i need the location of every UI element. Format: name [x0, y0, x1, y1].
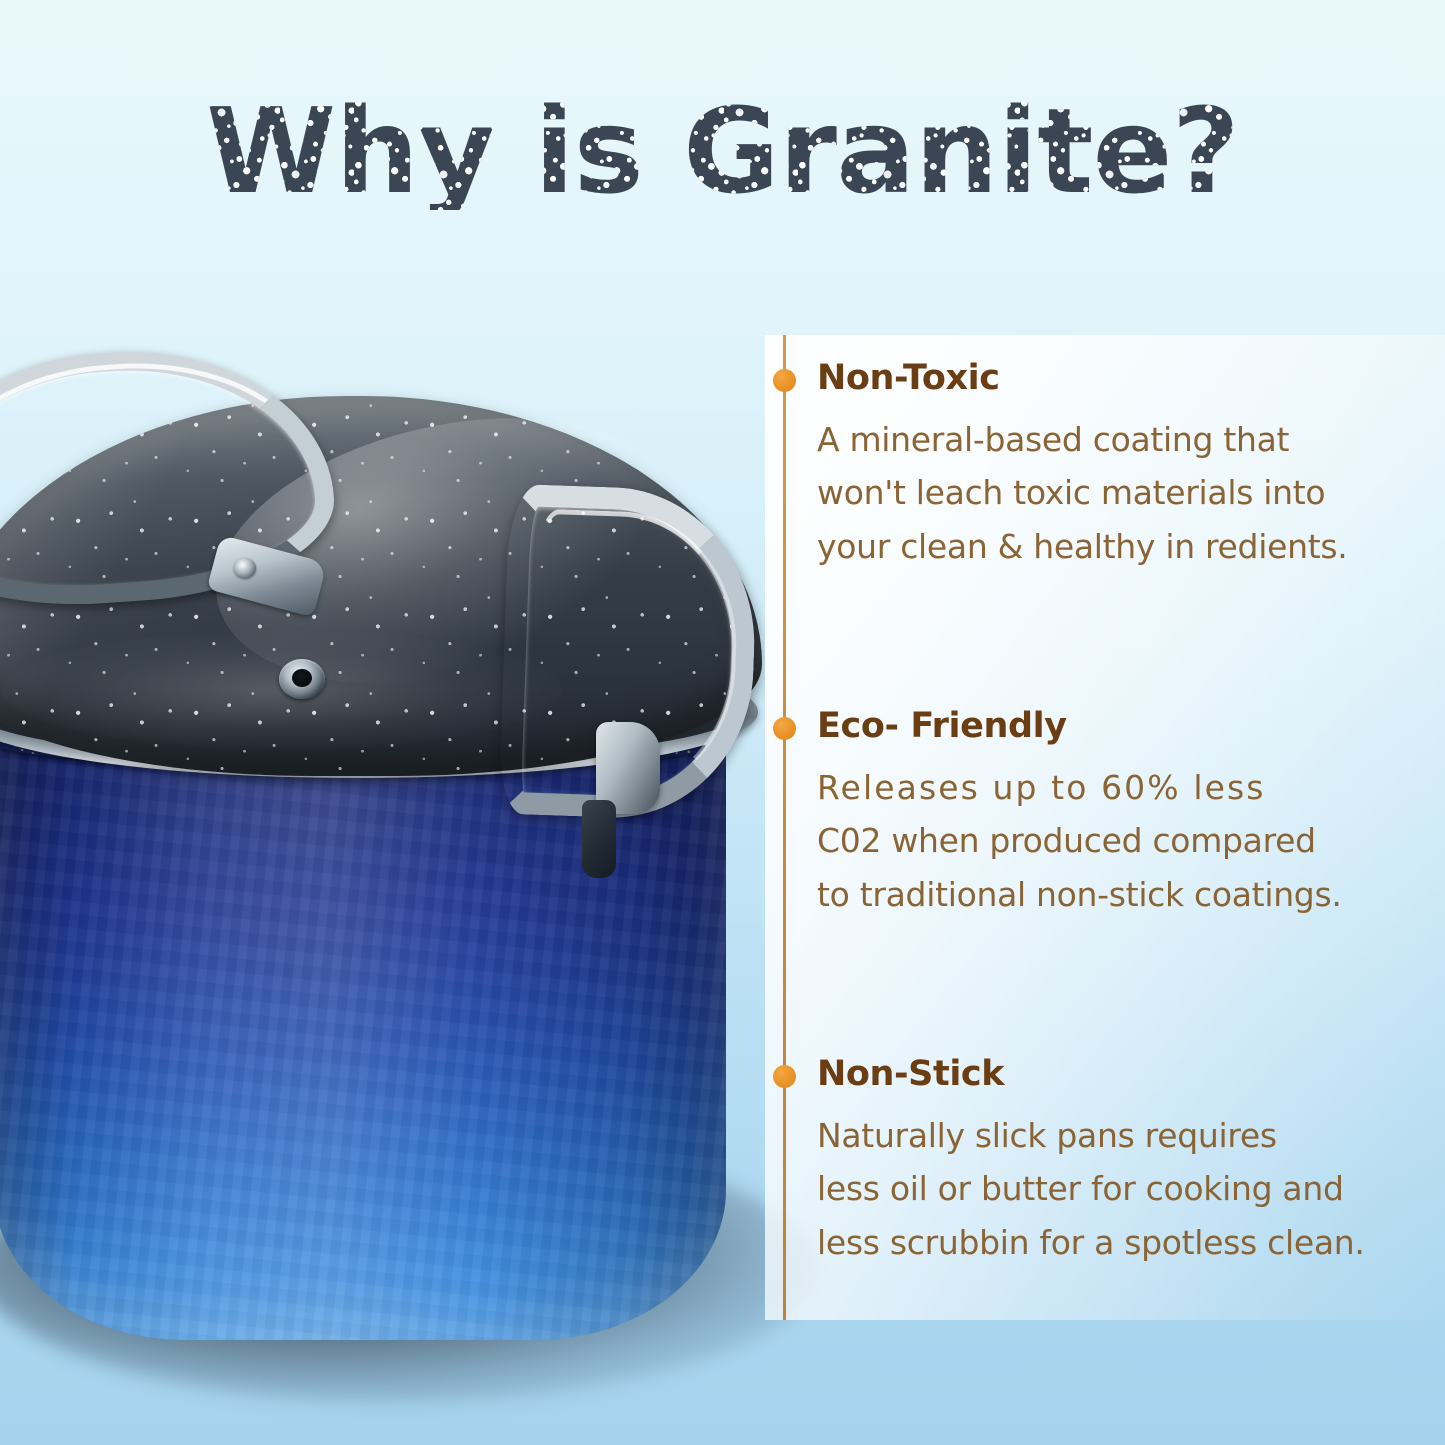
lid-handle-rivet	[234, 558, 256, 578]
feature-description: Releases up to 60% less C02 when produce…	[817, 761, 1425, 921]
feature-line: less scrubbin for a spotless clean.	[817, 1216, 1425, 1269]
bullet-dot-icon	[773, 717, 796, 740]
pot-body	[0, 728, 726, 1340]
feature-description: A mineral-based coating that won't leach…	[817, 413, 1425, 573]
feature-line: Releases up to 60% less	[817, 761, 1425, 814]
feature-heading: Eco- Friendly	[817, 706, 1067, 746]
feature-description: Naturally slick pans requires less oil o…	[817, 1109, 1425, 1269]
bullet-dot-icon	[773, 369, 796, 392]
feature-panel: Non-Toxic A mineral-based coating that w…	[765, 335, 1445, 1320]
feature-line: less oil or butter for cooking and	[817, 1162, 1425, 1215]
feature-heading: Non-Stick	[817, 1054, 1004, 1094]
feature-line: Naturally slick pans requires	[817, 1109, 1425, 1162]
product-image-stock-pot	[0, 330, 782, 1410]
feature-heading: Non-Toxic	[817, 358, 1000, 398]
feature-line: to traditional non-stick coatings.	[817, 868, 1425, 921]
side-handle-mount-lug-lower	[582, 800, 616, 878]
feature-line: won't leach toxic materials into	[817, 466, 1425, 519]
page-title: Why is Granite?	[206, 92, 1239, 210]
feature-line: your clean & healthy in redients.	[817, 520, 1425, 573]
timeline-connector-line	[783, 335, 786, 1320]
feature-line: A mineral-based coating that	[817, 413, 1425, 466]
steam-vent-icon	[279, 659, 325, 699]
feature-line: C02 when produced compared	[817, 814, 1425, 867]
page-title-container: Why is Granite?	[0, 92, 1445, 210]
bullet-dot-icon	[773, 1065, 796, 1088]
